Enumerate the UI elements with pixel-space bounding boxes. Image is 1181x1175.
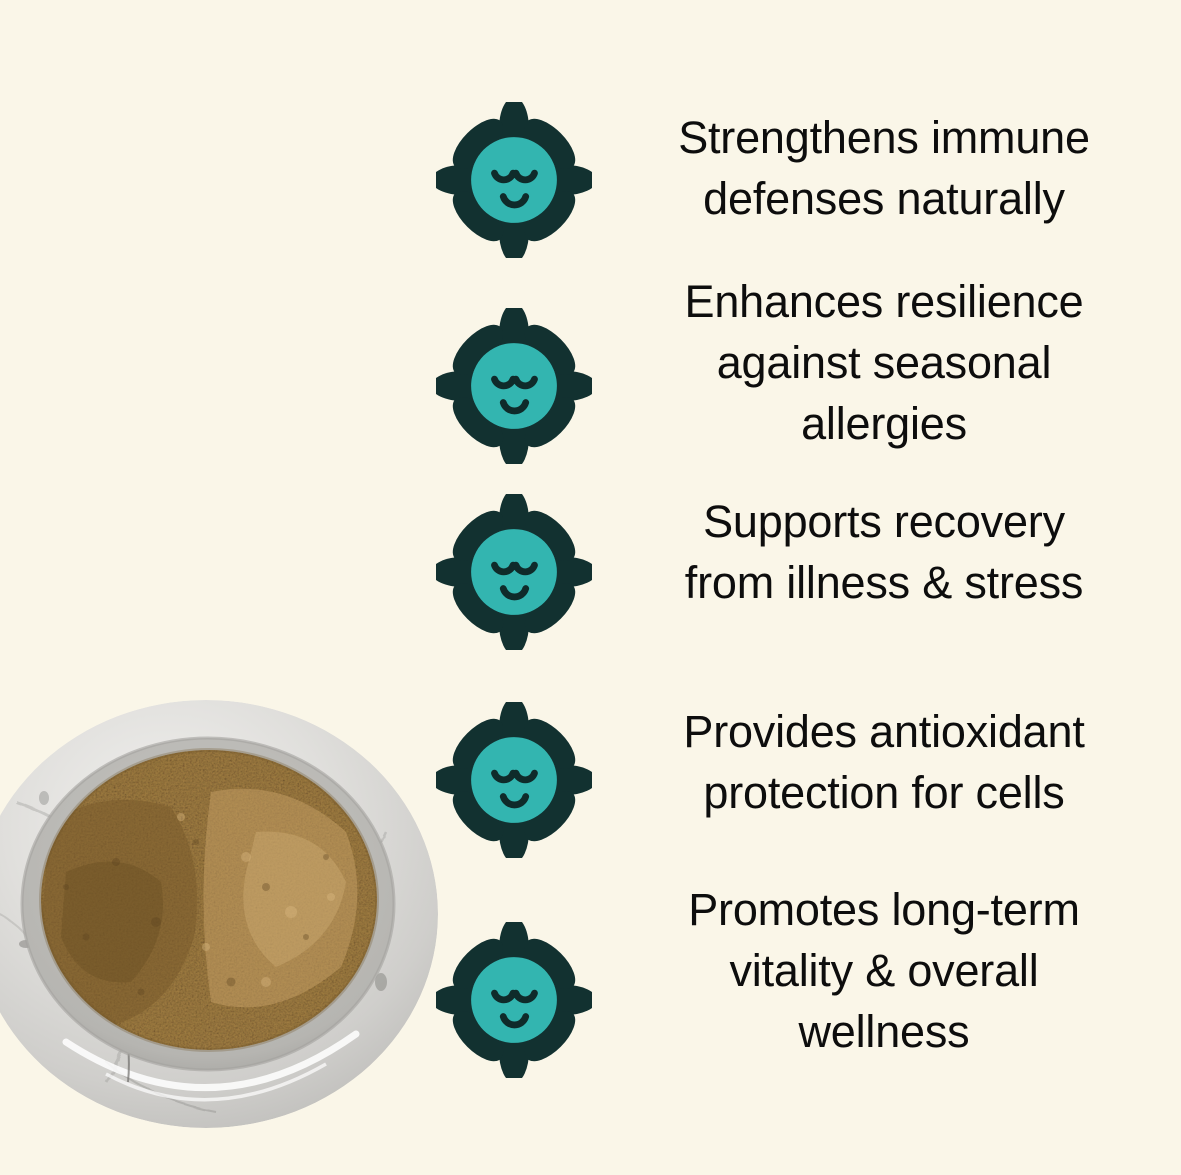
- benefit-item-long-term-vitality: Promotes long-term vitality & overall we…: [430, 880, 1170, 1078]
- benefit-item-seasonal-allergies: Enhances resilience against seasonal all…: [430, 272, 1170, 464]
- sleeping-flower-icon: [430, 494, 598, 650]
- benefit-label: Enhances resilience against seasonal all…: [598, 272, 1170, 454]
- marble-bowl-of-powder: [0, 682, 456, 1152]
- benefit-item-recovery-illness-stress: Supports recovery from illness & stress: [430, 478, 1170, 650]
- poster-canvas: Strengthens immune defenses naturally: [0, 0, 1181, 1175]
- benefit-label: Provides antioxidant protection for cell…: [598, 692, 1170, 824]
- sleeping-flower-icon: [430, 102, 598, 258]
- benefit-label: Promotes long-term vitality & overall we…: [598, 880, 1170, 1062]
- benefits-list: Strengthens immune defenses naturally: [430, 100, 1170, 1082]
- sleeping-flower-icon: [430, 308, 598, 464]
- benefit-label: Supports recovery from illness & stress: [598, 478, 1170, 614]
- benefit-item-antioxidant-protection: Provides antioxidant protection for cell…: [430, 692, 1170, 858]
- benefit-item-immune-defenses: Strengthens immune defenses naturally: [430, 100, 1170, 258]
- benefit-label: Strengthens immune defenses naturally: [598, 100, 1170, 230]
